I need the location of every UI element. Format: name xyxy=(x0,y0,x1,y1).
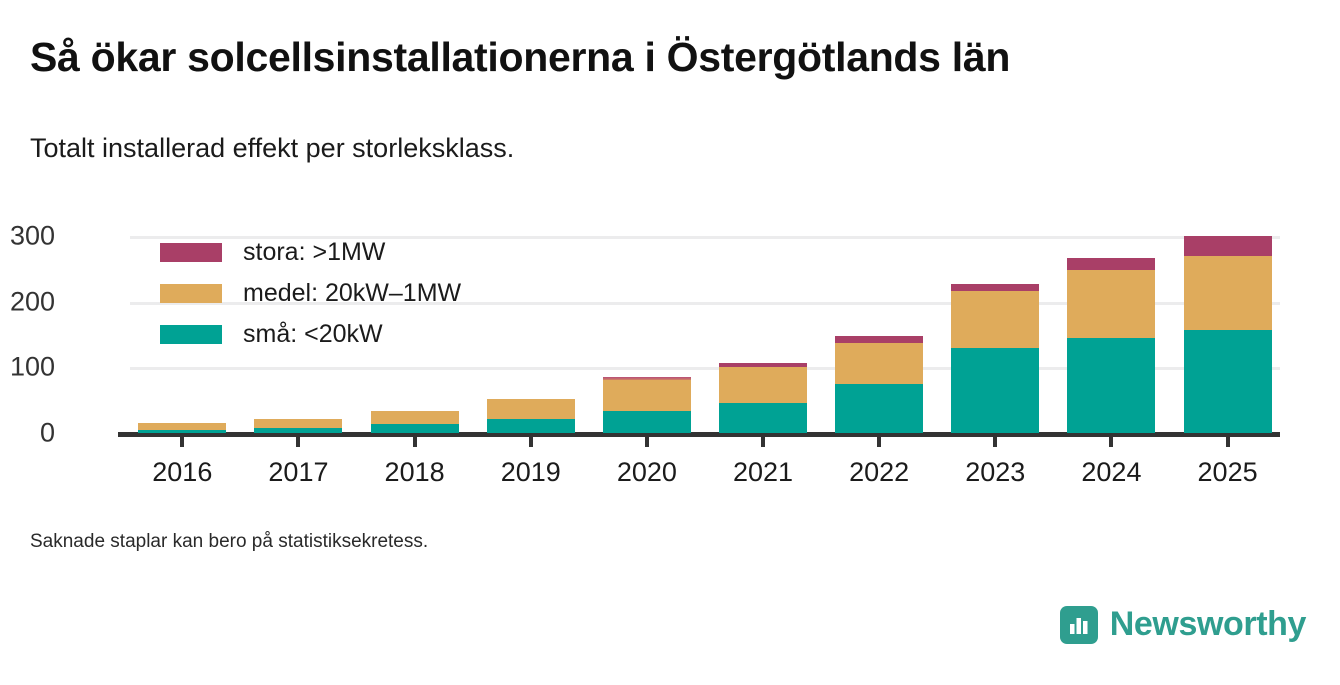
stacked-bar[interactable] xyxy=(1067,258,1155,433)
bar-group[interactable]: 2019 xyxy=(478,236,583,433)
legend-label-large: stora: >1MW xyxy=(243,238,385,267)
bar-segment-medium[interactable] xyxy=(835,343,923,384)
stacked-bar[interactable] xyxy=(254,419,342,433)
x-tick-label-2017: 2017 xyxy=(268,457,328,488)
x-axis-tick-mark xyxy=(993,435,997,447)
bar-segment-medium[interactable] xyxy=(719,367,807,403)
bar-chart-logo-icon xyxy=(1060,606,1098,644)
bar-segment-small[interactable] xyxy=(603,411,691,433)
stacked-bar[interactable] xyxy=(603,377,691,433)
bar-segment-medium[interactable] xyxy=(951,291,1039,348)
bar-segment-medium[interactable] xyxy=(254,419,342,428)
legend-label-medium: medel: 20kW–1MW xyxy=(243,279,461,308)
bar-segment-small[interactable] xyxy=(1184,330,1272,433)
x-axis-tick-mark xyxy=(645,435,649,447)
x-axis-tick-mark xyxy=(180,435,184,447)
x-tick-label-2018: 2018 xyxy=(385,457,445,488)
y-tick-label-200: 200 xyxy=(0,286,55,317)
y-tick-label-0: 0 xyxy=(0,418,55,449)
x-axis-tick-mark xyxy=(1226,435,1230,447)
bar-segment-medium[interactable] xyxy=(487,399,575,419)
x-tick-label-2021: 2021 xyxy=(733,457,793,488)
legend-swatch-large-icon xyxy=(160,243,222,262)
bar-segment-small[interactable] xyxy=(254,428,342,433)
x-axis-tick-mark xyxy=(761,435,765,447)
stacked-bar[interactable] xyxy=(719,363,807,433)
legend-swatch-small-icon xyxy=(160,325,222,344)
bar-segment-small[interactable] xyxy=(138,430,226,433)
bar-segment-small[interactable] xyxy=(1067,338,1155,433)
x-axis-tick-mark xyxy=(1109,435,1113,447)
x-axis-tick-mark xyxy=(413,435,417,447)
bar-segment-small[interactable] xyxy=(835,384,923,433)
bar-segment-small[interactable] xyxy=(719,403,807,433)
page-title: Så ökar solcellsinstallationerna i Öster… xyxy=(30,34,1010,81)
x-axis-tick-mark xyxy=(877,435,881,447)
bar-group[interactable]: 2020 xyxy=(595,236,700,433)
x-axis-tick-mark xyxy=(296,435,300,447)
chart-legend: stora: >1MW medel: 20kW–1MW små: <20kW xyxy=(160,232,461,355)
x-tick-label-2023: 2023 xyxy=(965,457,1025,488)
bar-segment-medium[interactable] xyxy=(371,411,459,424)
bar-segment-medium[interactable] xyxy=(1184,256,1272,330)
legend-swatch-medium-icon xyxy=(160,284,222,303)
page-subtitle: Totalt installerad effekt per storlekskl… xyxy=(30,133,514,164)
bar-segment-medium[interactable] xyxy=(603,380,691,410)
x-tick-label-2019: 2019 xyxy=(501,457,561,488)
chart-page: Så ökar solcellsinstallationerna i Öster… xyxy=(0,0,1340,685)
bar-segment-medium[interactable] xyxy=(1067,270,1155,338)
x-axis-tick-mark xyxy=(529,435,533,447)
legend-item-medium[interactable]: medel: 20kW–1MW xyxy=(160,273,461,314)
x-tick-label-2024: 2024 xyxy=(1081,457,1141,488)
x-tick-label-2025: 2025 xyxy=(1198,457,1258,488)
stacked-bar[interactable] xyxy=(487,399,575,433)
bar-segment-small[interactable] xyxy=(371,424,459,433)
bar-segment-large[interactable] xyxy=(1067,258,1155,270)
stacked-bar[interactable] xyxy=(1184,236,1272,433)
bar-group[interactable]: 2025 xyxy=(1175,236,1280,433)
x-tick-label-2020: 2020 xyxy=(617,457,677,488)
brand-name: Newsworthy xyxy=(1110,605,1306,644)
x-tick-label-2016: 2016 xyxy=(152,457,212,488)
legend-label-small: små: <20kW xyxy=(243,320,383,349)
y-tick-label-100: 100 xyxy=(0,352,55,383)
x-tick-label-2022: 2022 xyxy=(849,457,909,488)
y-tick-label-300: 300 xyxy=(0,221,55,252)
bar-segment-large[interactable] xyxy=(603,377,691,381)
legend-item-large[interactable]: stora: >1MW xyxy=(160,232,461,273)
stacked-bar[interactable] xyxy=(951,284,1039,433)
stacked-bar[interactable] xyxy=(138,423,226,433)
bar-group[interactable]: 2023 xyxy=(943,236,1048,433)
bar-group[interactable]: 2022 xyxy=(827,236,932,433)
bar-group[interactable]: 2021 xyxy=(711,236,816,433)
legend-item-small[interactable]: små: <20kW xyxy=(160,314,461,355)
bar-segment-large[interactable] xyxy=(1184,236,1272,256)
chart-footnote: Saknade staplar kan bero på statistiksek… xyxy=(30,531,428,553)
bar-group[interactable]: 2024 xyxy=(1059,236,1164,433)
bar-segment-small[interactable] xyxy=(487,419,575,433)
newsworthy-brand[interactable]: Newsworthy xyxy=(1060,605,1306,644)
bar-segment-small[interactable] xyxy=(951,348,1039,433)
stacked-bar[interactable] xyxy=(371,411,459,433)
stacked-bar[interactable] xyxy=(835,336,923,433)
